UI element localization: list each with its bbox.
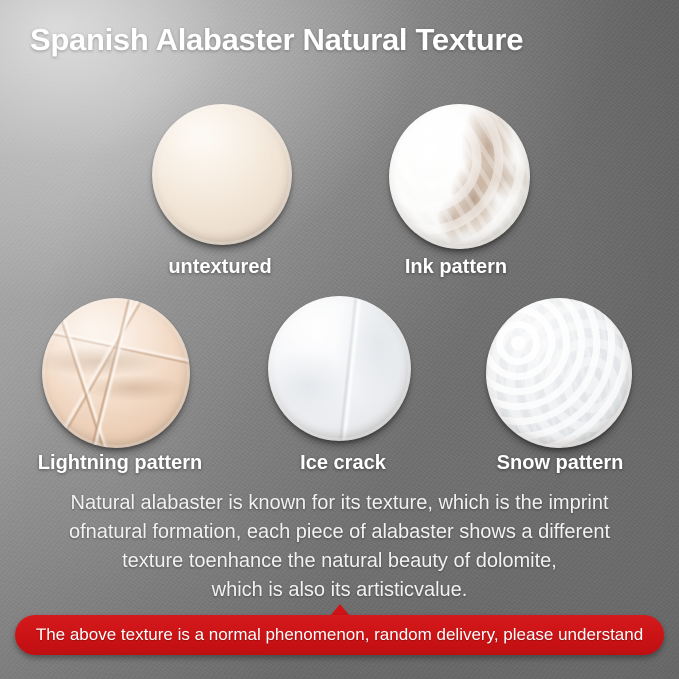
swatch-texture-lightning-pattern <box>42 298 190 448</box>
swatch-label-ice-crack: Ice crack <box>300 452 386 475</box>
description-line-4: which is also its artisticvalue. <box>16 576 663 605</box>
swatch-label-snow-pattern: Snow pattern <box>497 452 624 475</box>
swatch-disc-ink-pattern <box>389 104 530 249</box>
swatch-disc-lightning-pattern <box>42 298 190 448</box>
swatch-disc-ice-crack <box>268 296 411 441</box>
swatch-texture-snow-pattern <box>486 298 632 448</box>
swatch-texture-ice-crack <box>268 296 411 441</box>
notice-banner: The above texture is a normal phenomenon… <box>15 615 664 655</box>
description-line-1: Natural alabaster is known for its textu… <box>16 489 663 518</box>
description-line-2: ofnatural formation, each piece of alaba… <box>16 518 663 547</box>
page-title: Spanish Alabaster Natural Texture <box>30 22 523 58</box>
swatch-disc-snow-pattern <box>486 298 632 448</box>
swatch-label-lightning-pattern: Lightning pattern <box>38 452 202 475</box>
notice-banner-text: The above texture is a normal phenomenon… <box>36 625 643 645</box>
description-line-3: texture toenhance the natural beauty of … <box>16 547 663 576</box>
description-paragraph: Natural alabaster is known for its textu… <box>16 489 663 605</box>
swatch-label-untextured: untextured <box>168 256 271 279</box>
swatch-texture-untextured <box>152 104 292 245</box>
swatch-disc-untextured <box>152 104 292 245</box>
swatch-label-ink-pattern: Ink pattern <box>405 256 507 279</box>
swatch-texture-ink-pattern <box>389 104 530 249</box>
